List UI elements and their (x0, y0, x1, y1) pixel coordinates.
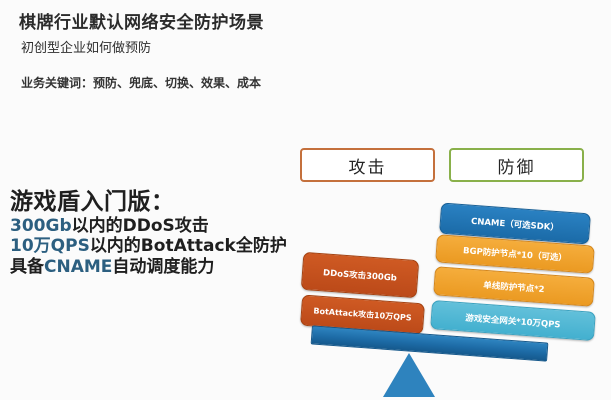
product-pitch-block: 游戏盾入门版： 300Gb以内的DDoS攻击 10万QPS以内的BotAttac… (10, 190, 300, 278)
pitch-cname-prefix: 具备 (10, 257, 44, 277)
attack-card-ddos: DDoS攻击300Gb (301, 252, 419, 298)
pitch-line-ddos: 300Gb以内的DDoS攻击 (10, 216, 300, 237)
pitch-ddos-capacity: 300Gb (10, 216, 72, 236)
defense-side-label: 防御 (449, 148, 584, 182)
defense-card-single-line-nodes: 单线防护节点*2 (433, 266, 595, 307)
pitch-line-cname: 具备CNAME自动调度能力 (10, 257, 300, 278)
attack-side-label: 攻击 (300, 148, 435, 182)
pitch-heading: 游戏盾入门版： (10, 190, 300, 216)
seesaw-fulcrum-triangle (383, 353, 435, 397)
pitch-line-bot: 10万QPS以内的BotAttack全防护 (10, 236, 300, 257)
page-title: 棋牌行业默认网络安全防护场景 (19, 8, 264, 33)
pitch-qps-capacity: 10万QPS (10, 236, 90, 256)
pitch-cname-keyword: CNAME (44, 257, 112, 277)
pitch-bot-text: 以内的BotAttack全防护 (90, 236, 287, 256)
defense-card-game-security-gateway: 游戏安全网关*10万QPS (430, 300, 596, 341)
business-keywords: 业务关键词：预防、兜底、切换、效果、成本 (21, 74, 261, 91)
page-subtitle: 初创型企业如何做预防 (21, 37, 151, 56)
pitch-ddos-text: 以内的DDoS攻击 (72, 216, 209, 236)
pitch-cname-text: 自动调度能力 (112, 257, 214, 277)
